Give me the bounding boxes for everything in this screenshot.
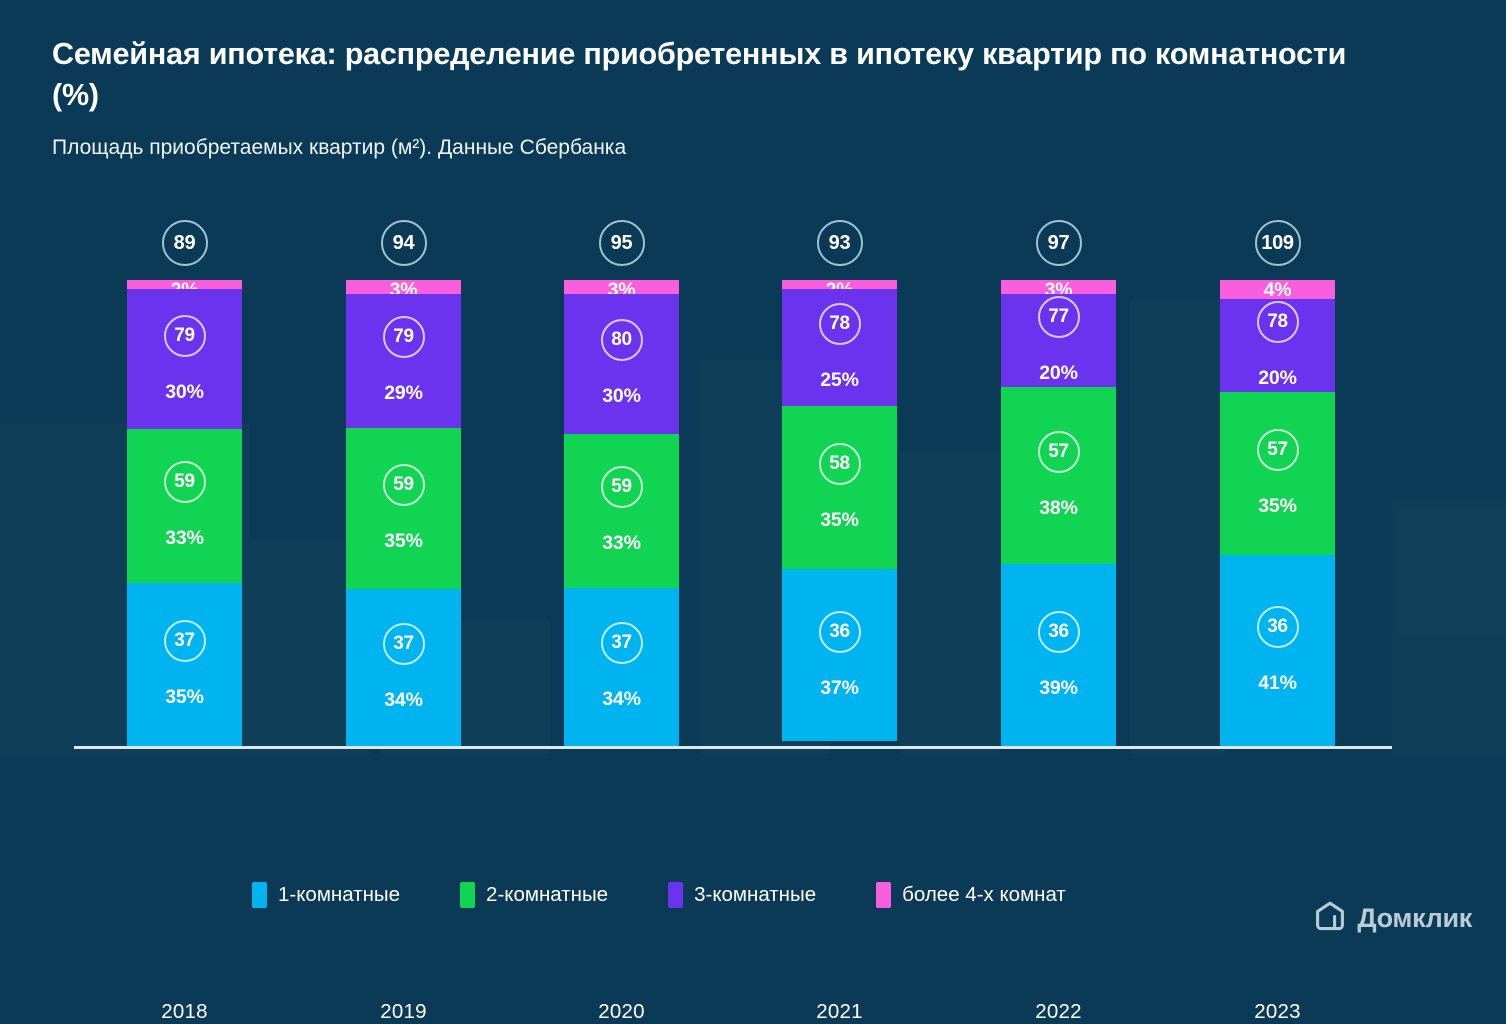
bar-segment-one-room[interactable]: 3734% [564, 588, 679, 746]
bar-segment-four-plus-room[interactable]: 4% [1220, 280, 1335, 299]
legend-swatch [460, 882, 475, 908]
segment-area-badge: 58 [819, 443, 861, 485]
domclick-logo: Домклик [1314, 900, 1472, 937]
segment-percent-label: 35% [165, 686, 203, 709]
bar-segment-one-room[interactable]: 3641% [1220, 555, 1335, 746]
bar-segment-four-plus-room[interactable]: 2% [782, 280, 897, 289]
bar-stack: 4%7820%5735%3641% [1220, 280, 1335, 746]
total-area-badge: 97 [1036, 220, 1082, 266]
bar-stack: 3%7929%5935%3734% [346, 280, 461, 746]
total-area-badge: 94 [381, 220, 427, 266]
segment-percent-label: 35% [384, 530, 422, 553]
segment-percent-label: 39% [1039, 677, 1077, 700]
chart-subtitle: Площадь приобретаемых квартир (м²). Данн… [52, 136, 1392, 160]
segment-percent-label: 34% [384, 689, 422, 712]
bar-stack: 2%7930%5933%3735% [127, 280, 242, 746]
chart-page: Семейная ипотека: распределение приобрет… [0, 0, 1506, 975]
segment-area-badge: 36 [1257, 606, 1299, 648]
segment-area-badge: 37 [383, 623, 425, 665]
legend-item[interactable]: 2-комнатные [460, 882, 608, 908]
page-title: Семейная ипотека: распределение приобрет… [52, 34, 1392, 115]
legend-label: 1-комнатные [278, 883, 400, 907]
legend-label: более 4-х комнат [902, 883, 1066, 907]
bar-column[interactable]: 1094%7820%5735%3641% [1220, 220, 1335, 746]
bar-segment-one-room[interactable]: 3637% [782, 569, 897, 741]
bar-stack: 2%7825%5835%3637% [782, 280, 897, 746]
x-axis-label: 2023 [1220, 1000, 1335, 1024]
bar-column[interactable]: 943%7929%5935%3734% [346, 220, 461, 746]
bar-segment-four-plus-room[interactable]: 2% [127, 280, 242, 289]
segment-area-badge: 36 [819, 611, 861, 653]
x-axis-label: 2021 [782, 1000, 897, 1024]
bar-segment-four-plus-room[interactable]: 3% [564, 280, 679, 294]
x-axis-label: 2018 [127, 1000, 242, 1024]
bar-segment-three-room[interactable]: 7929% [346, 294, 461, 428]
bar-segment-two-room[interactable]: 5933% [127, 429, 242, 583]
bar-segment-three-room[interactable]: 7720% [1001, 294, 1116, 387]
x-axis-label: 2020 [564, 1000, 679, 1024]
segment-area-badge: 59 [601, 466, 643, 508]
x-axis-label: 2019 [346, 1000, 461, 1024]
bar-segment-two-room[interactable]: 5738% [1001, 387, 1116, 564]
segment-percent-label: 20% [1039, 362, 1077, 385]
segment-percent-label: 35% [820, 509, 858, 532]
segment-percent-label: 34% [602, 688, 640, 711]
bar-segment-three-room[interactable]: 7930% [127, 289, 242, 429]
segment-percent-label: 35% [1258, 495, 1296, 518]
segment-percent-label: 37% [820, 677, 858, 700]
bar-segment-two-room[interactable]: 5935% [346, 428, 461, 589]
segment-area-badge: 78 [819, 303, 861, 345]
legend-swatch [252, 882, 267, 908]
segment-area-badge: 77 [1038, 296, 1080, 338]
segment-area-badge: 57 [1038, 431, 1080, 473]
segment-area-badge: 57 [1257, 429, 1299, 471]
bar-segment-one-room[interactable]: 3735% [127, 583, 242, 746]
segment-percent-label: 29% [384, 382, 422, 405]
segment-percent-label: 33% [165, 527, 203, 550]
segment-area-badge: 78 [1257, 301, 1299, 343]
logo-text: Домклик [1357, 903, 1472, 934]
bar-column[interactable]: 953%8030%5933%3734% [564, 220, 679, 746]
bar-stack: 3%8030%5933%3734% [564, 280, 679, 746]
legend-item[interactable]: более 4-х комнат [876, 882, 1066, 908]
bar-segment-three-room[interactable]: 8030% [564, 294, 679, 434]
bar-column[interactable]: 892%7930%5933%3735% [127, 220, 242, 746]
legend-item[interactable]: 3-комнатные [668, 882, 816, 908]
total-area-badge: 95 [599, 220, 645, 266]
bar-segment-three-room[interactable]: 7820% [1220, 299, 1335, 392]
segment-area-badge: 79 [383, 316, 425, 358]
bar-segment-two-room[interactable]: 5735% [1220, 392, 1335, 555]
bar-segment-four-plus-room[interactable]: 3% [1001, 280, 1116, 294]
bar-column[interactable]: 932%7825%5835%3637% [782, 220, 897, 746]
x-axis-line [74, 746, 1392, 749]
house-pentagon-icon [1314, 900, 1346, 937]
legend-label: 3-комнатные [694, 883, 816, 907]
bar-segment-two-room[interactable]: 5933% [564, 434, 679, 588]
bar-stack: 3%7720%5738%3639% [1001, 280, 1116, 746]
legend-label: 2-комнатные [486, 883, 608, 907]
segment-area-badge: 59 [164, 461, 206, 503]
segment-percent-label: 20% [1258, 367, 1296, 390]
legend-swatch [668, 882, 683, 908]
bar-segment-three-room[interactable]: 7825% [782, 289, 897, 406]
legend-swatch [876, 882, 891, 908]
bar-segment-one-room[interactable]: 3734% [346, 589, 461, 746]
segment-percent-label: 33% [602, 532, 640, 555]
segment-area-badge: 59 [383, 464, 425, 506]
bar-column[interactable]: 973%7720%5738%3639% [1001, 220, 1116, 746]
segment-area-badge: 37 [164, 620, 206, 662]
x-axis-label: 2022 [1001, 1000, 1116, 1024]
bars-container: 892%7930%5933%3735%943%7929%5935%3734%95… [0, 210, 1506, 746]
segment-area-badge: 80 [601, 319, 643, 361]
segment-percent-label: 25% [820, 369, 858, 392]
segment-area-badge: 36 [1038, 611, 1080, 653]
chart-header: Семейная ипотека: распределение приобрет… [52, 34, 1392, 160]
total-area-badge: 93 [817, 220, 863, 266]
segment-area-badge: 37 [601, 622, 643, 664]
segment-area-badge: 79 [164, 315, 206, 357]
legend-item[interactable]: 1-комнатные [252, 882, 400, 908]
bar-segment-one-room[interactable]: 3639% [1001, 564, 1116, 746]
chart-legend: 1-комнатные2-комнатные3-комнатныеболее 4… [252, 882, 1066, 908]
plot-area: 892%7930%5933%3735%943%7929%5935%3734%95… [0, 210, 1506, 755]
segment-percent-label: 41% [1258, 672, 1296, 695]
segment-percent-label: 38% [1039, 497, 1077, 520]
bar-segment-two-room[interactable]: 5835% [782, 406, 897, 569]
total-area-badge: 109 [1255, 220, 1301, 266]
segment-percent-label: 30% [602, 385, 640, 408]
total-area-badge: 89 [162, 220, 208, 266]
bar-segment-four-plus-room[interactable]: 3% [346, 280, 461, 294]
segment-percent-label: 30% [165, 381, 203, 404]
